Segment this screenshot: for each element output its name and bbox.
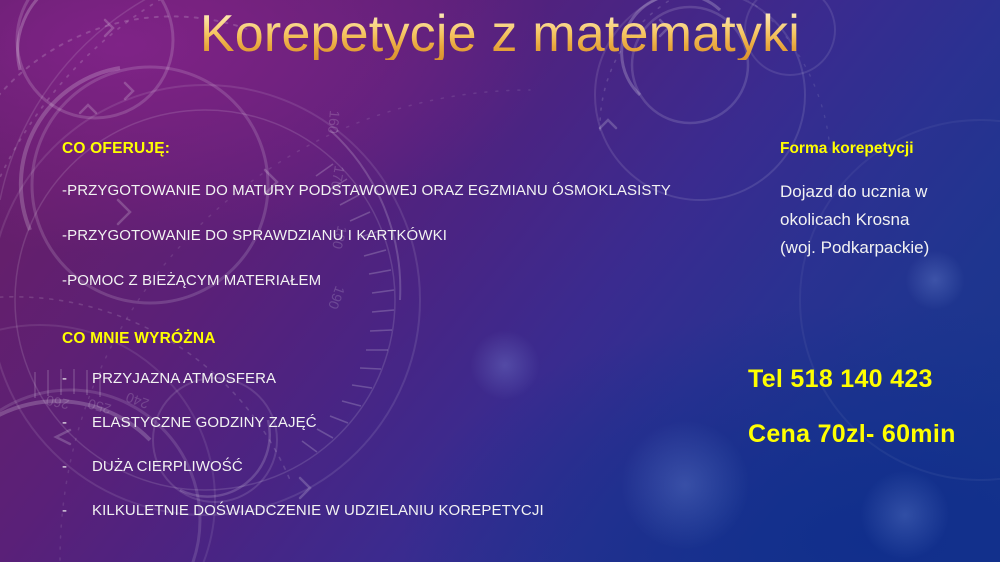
list-item: - PRZYJAZNA ATMOSFERA [62,370,682,387]
tutoring-format-line: Dojazd do ucznia w [780,178,995,206]
list-item-label: ELASTYCZNE GODZINY ZAJĘĆ [92,414,682,431]
offer-item: -PRZYGOTOWANIE DO MATURY PODSTAWOWEJ ORA… [62,180,682,203]
offer-item: -PRZYGOTOWANIE DO SPRAWDZIANU I KARTKÓWK… [62,225,682,248]
phone-number: Tel 518 140 423 [748,365,1000,394]
offer-heading: CO OFERUJĘ: [62,140,682,158]
slide-title-reflection: Korepetycje z matematyki [0,62,1000,88]
right-content-column: Forma korepetycji Dojazd do ucznia w oko… [780,140,995,262]
slide-title-text: Korepetycje z matematyki [200,8,800,60]
svg-text:160: 160 [325,110,343,135]
tutoring-format-line: (woj. Podkarpackie) [780,234,995,262]
bullet-dash: - [62,502,92,519]
list-item-label: PRZYJAZNA ATMOSFERA [92,370,682,387]
bullet-dash: - [62,414,92,431]
contact-block: Tel 518 140 423 Cena 70zl- 60min [748,365,1000,475]
list-item: - DUŻA CIERPLIWOŚĆ [62,458,682,475]
slide-canvas: 160 170 180 190 240 250 260 Korepetycje … [0,0,1000,562]
bullet-dash: - [62,458,92,475]
left-content-column: CO OFERUJĘ: -PRZYGOTOWANIE DO MATURY POD… [62,140,682,546]
differentiators-heading: CO MNIE WYRÓŻNA [62,330,682,348]
bullet-dash: - [62,370,92,387]
tutoring-format-line: okolicach Krosna [780,206,995,234]
list-item-label: KILKULETNIE DOŚWIADCZENIE W UDZIELANIU K… [92,502,682,519]
bokeh-dot [860,470,950,560]
tutoring-format-heading: Forma korepetycji [780,140,995,158]
list-item: - ELASTYCZNE GODZINY ZAJĘĆ [62,414,682,431]
slide-title: Korepetycje z matematyki [0,8,1000,60]
list-item: - KILKULETNIE DOŚWIADCZENIE W UDZIELANIU… [62,502,682,519]
offer-item: -POMOC Z BIEŻĄCYM MATERIAŁEM [62,270,682,293]
list-item-label: DUŻA CIERPLIWOŚĆ [92,458,682,475]
price-line: Cena 70zl- 60min [748,420,1000,449]
